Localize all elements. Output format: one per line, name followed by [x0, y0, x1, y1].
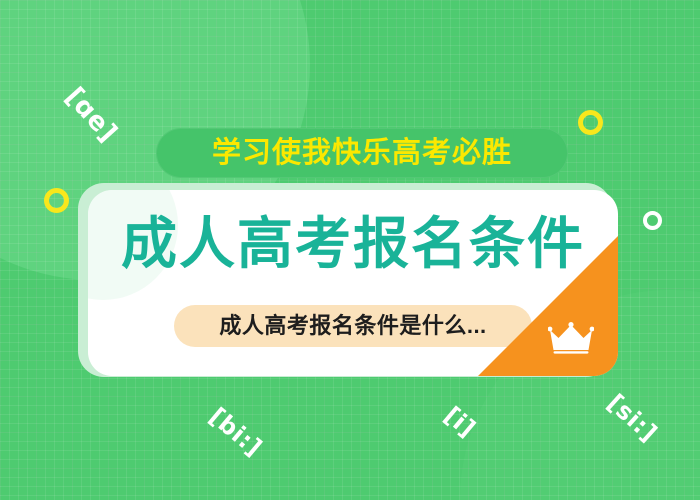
- ring-yellow-right: [578, 110, 603, 135]
- ring-white-right: [643, 211, 662, 230]
- top-slogan-text: 学习使我快乐高考必胜: [212, 139, 512, 168]
- crown-icon: [548, 322, 594, 354]
- top-slogan-badge: 学习使我快乐高考必胜: [156, 128, 568, 178]
- ring-yellow-left: [44, 188, 69, 213]
- page-title: 成人高考报名条件: [88, 216, 618, 272]
- subtitle-pill: 成人高考报名条件是什么...: [174, 305, 532, 347]
- poster-canvas: [ɑe] [bi:] [i] [si:] 学习使我快乐高考必胜 成人高考报名条件…: [0, 0, 700, 500]
- subtitle-text: 成人高考报名条件是什么...: [219, 315, 486, 337]
- main-card: 成人高考报名条件 成人高考报名条件是什么...: [88, 190, 618, 376]
